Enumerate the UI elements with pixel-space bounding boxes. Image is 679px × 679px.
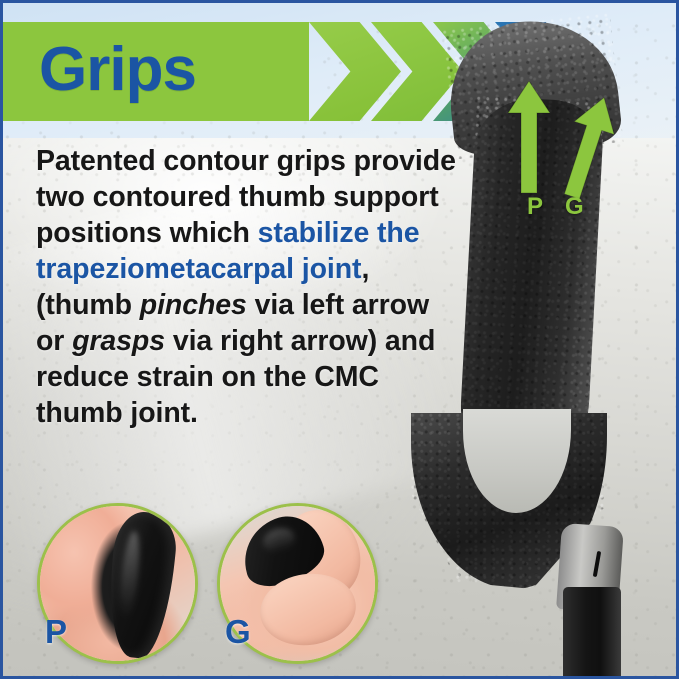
inset-label-pinch: P xyxy=(45,615,67,648)
page-title: Grips xyxy=(39,39,196,101)
copy-line-6-a: (thumb xyxy=(36,289,140,321)
grasp-arrow-label: G xyxy=(565,195,584,219)
copy-line-4-plain: which xyxy=(170,217,258,249)
copy-line-6-b: via left arrow xyxy=(247,289,429,321)
copy-line-7-a: or xyxy=(36,325,72,357)
copy-line-4-highlight: stabilize the xyxy=(258,217,420,249)
cane-shaft-pole xyxy=(563,587,621,679)
header-green-bar: Grips xyxy=(3,22,309,121)
copy-line-1: Patented contour grips xyxy=(36,145,346,177)
copy-line-7-b: via right arrow) xyxy=(165,325,377,357)
inset-label-grasp: G xyxy=(225,615,251,648)
copy-line-6-italic: pinches xyxy=(140,289,247,321)
pinch-arrow-up-icon xyxy=(508,81,550,193)
description-paragraph: Patented contour grips provide two conto… xyxy=(36,143,456,431)
product-infographic-poster: Grips P G Patented contour grips provide xyxy=(0,0,679,679)
copy-line-5-highlight: trapeziometacarpal joint xyxy=(36,253,361,285)
pinch-grip-shape xyxy=(102,509,179,660)
copy-line-5-plain: , xyxy=(361,253,369,285)
inset-photo-group: P G xyxy=(37,503,377,663)
pinch-arrow-label: P xyxy=(527,195,543,219)
copy-line-7-italic: grasps xyxy=(72,325,165,357)
